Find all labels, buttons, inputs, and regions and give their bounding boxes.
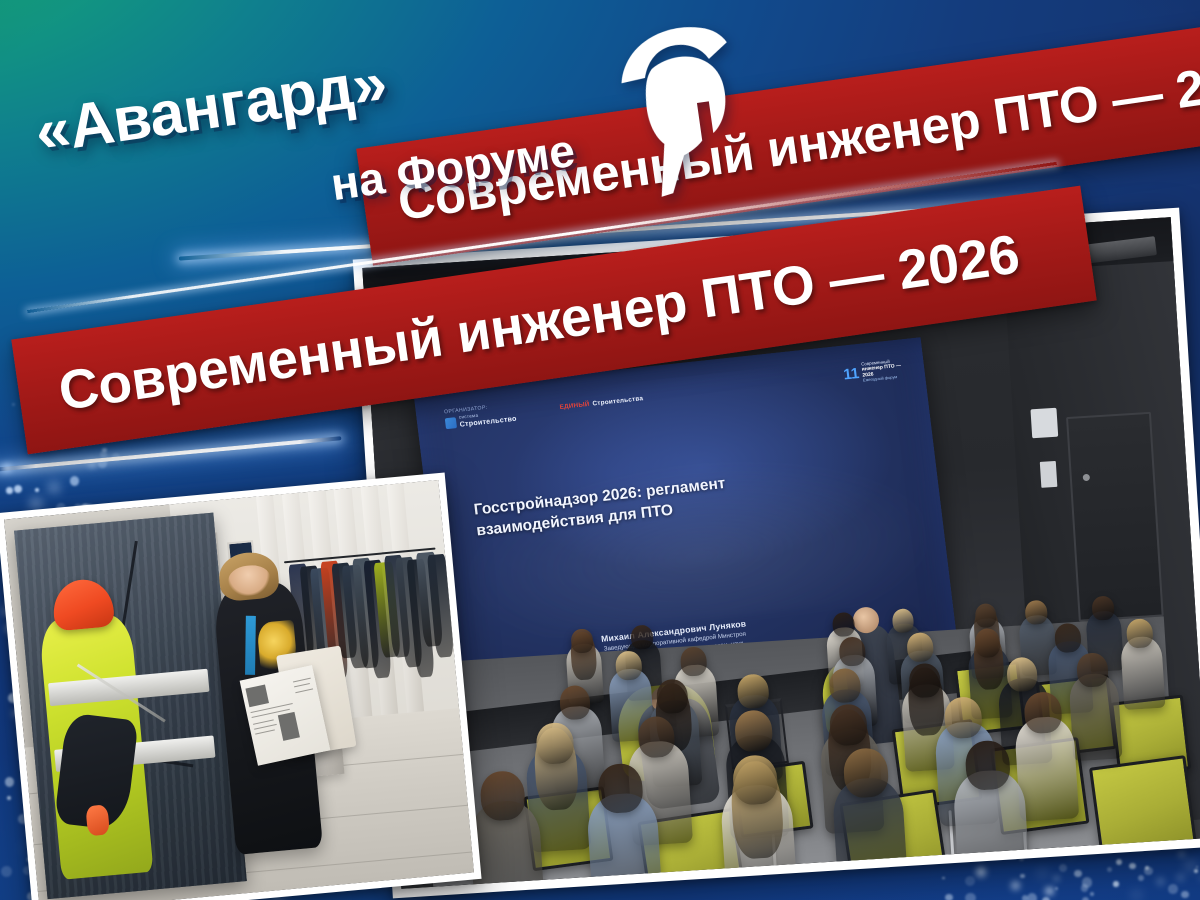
headline-brand: «Авангард» <box>31 47 391 168</box>
construction-banner <box>14 512 247 899</box>
audience-head <box>974 603 997 628</box>
audience-chair <box>1089 755 1198 860</box>
wall-switch-panel <box>1040 461 1058 488</box>
audience-head <box>964 739 1011 790</box>
audience-head <box>630 624 653 649</box>
poster-canvas: Организатор: система Строительство ЕДИНЫ… <box>0 0 1200 900</box>
audience-head <box>943 696 982 739</box>
audience-head <box>571 628 594 653</box>
audience-head <box>535 722 574 765</box>
audience-head <box>1024 600 1047 625</box>
ribbon-banner-main-text: Современный инженер ПТО — 2026 <box>55 221 1024 423</box>
audience-head <box>479 770 526 821</box>
audience-head <box>1091 595 1114 620</box>
audience-head <box>615 650 643 680</box>
spartan-helmet-icon <box>600 14 752 210</box>
worker-orange-glove <box>85 805 110 837</box>
audience-head <box>732 754 779 805</box>
expo-scene <box>4 480 474 900</box>
audience-head <box>838 636 866 666</box>
exit-door <box>1066 412 1164 622</box>
headline-block: Современный инженер ПТО — 2026 «Авангард… <box>0 0 1200 420</box>
expo-stand-photo-inner <box>4 480 474 900</box>
audience-head <box>656 678 689 714</box>
attendee-lanyard <box>245 616 255 675</box>
audience-head <box>1076 652 1109 688</box>
audience-head <box>736 673 769 709</box>
expo-stand-photo <box>0 472 482 900</box>
audience-head <box>832 612 855 637</box>
audience-head <box>828 703 867 746</box>
